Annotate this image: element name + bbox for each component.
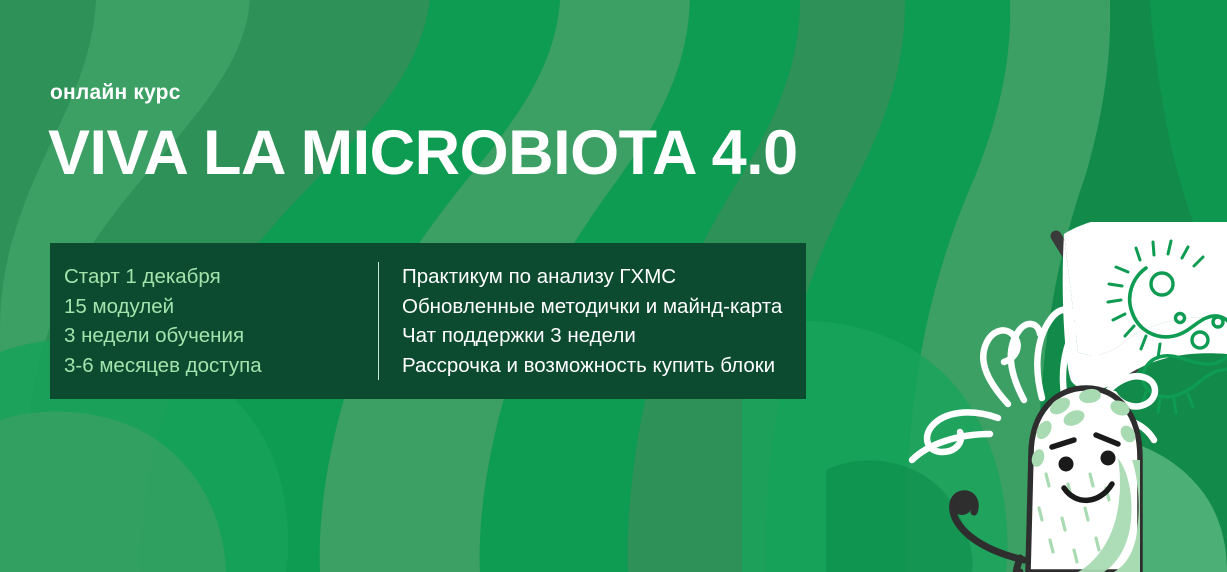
info-item-access: 3-6 месяцев доступа bbox=[64, 351, 378, 381]
course-info-panel: Старт 1 декабря 15 модулей 3 недели обуч… bbox=[50, 243, 806, 399]
info-item-duration: 3 недели обучения bbox=[64, 321, 378, 351]
feature-item-support-chat: Чат поддержки 3 недели bbox=[402, 321, 782, 351]
feature-item-practicum: Практикум по анализу ГХМС bbox=[402, 262, 782, 292]
feature-item-materials: Обновленные методички и майнд-карта bbox=[402, 292, 782, 322]
info-column-right: Практикум по анализу ГХМС Обновленные ме… bbox=[379, 262, 782, 380]
page-title: VIVA LA MICROBIOTA 4.0 bbox=[48, 122, 798, 185]
info-column-left: Старт 1 декабря 15 модулей 3 недели обуч… bbox=[50, 262, 378, 380]
feature-item-installment: Рассрочка и возможность купить блоки bbox=[402, 351, 782, 381]
banner-content: онлайн курс VIVA LA MICROBIOTA 4.0 Старт… bbox=[0, 0, 1227, 572]
info-item-modules: 15 модулей bbox=[64, 292, 378, 322]
info-item-start-date: Старт 1 декабря bbox=[64, 262, 378, 292]
course-kicker: онлайн курс bbox=[50, 81, 181, 105]
course-promo-banner: онлайн курс VIVA LA MICROBIOTA 4.0 Старт… bbox=[0, 0, 1227, 572]
